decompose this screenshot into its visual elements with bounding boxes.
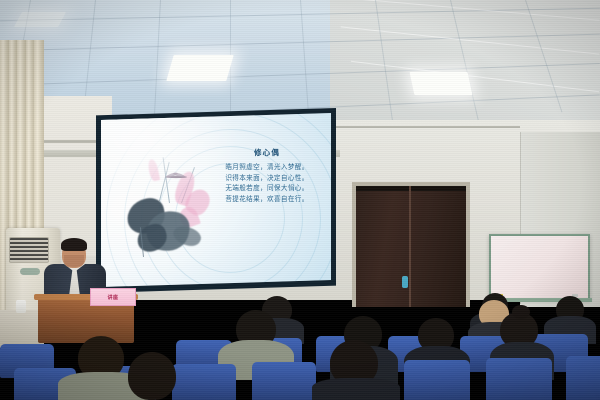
projection-screen[interactable]: 修心偶 皓月照虚空，清光入梦醒。 识得本来面，决定自心性。 无端般若度，同保大悁… xyxy=(101,113,331,287)
double-door[interactable] xyxy=(356,186,466,307)
water-cup[interactable] xyxy=(16,300,26,313)
door-top-shadow xyxy=(356,186,466,191)
door-center-split xyxy=(409,186,411,307)
ceiling-light-panel-1 xyxy=(166,55,233,81)
chair-front-3[interactable] xyxy=(172,364,236,400)
ceiling-light-panel-3 xyxy=(14,12,66,27)
screen-glare xyxy=(101,113,239,200)
chair-front-7[interactable] xyxy=(566,356,600,400)
chair-front-6[interactable] xyxy=(486,358,552,400)
speaker-face-shadow xyxy=(64,255,84,267)
ceiling-light-panel-2 xyxy=(410,72,473,95)
audience-head-front-3 xyxy=(128,352,176,400)
air-conditioner-badge xyxy=(20,268,40,275)
air-conditioner-grille xyxy=(9,237,49,263)
podium-sign: 讲座 xyxy=(90,288,136,306)
chair-front-4[interactable] xyxy=(252,362,316,400)
door-handle[interactable] xyxy=(402,276,408,288)
podium-sign-label: 讲座 xyxy=(107,294,118,301)
chair-front-5[interactable] xyxy=(404,360,470,400)
whiteboard[interactable] xyxy=(489,234,590,300)
hair-bun xyxy=(512,305,530,319)
wall-conduit-right xyxy=(330,126,520,128)
speaker-hair xyxy=(61,238,87,251)
audience-shoulder-front-2 xyxy=(312,378,400,400)
lecture-hall-photo: 修心偶 皓月照虚空，清光入梦醒。 识得本来面，决定自心性。 无端般若度，同保大悁… xyxy=(0,0,600,400)
